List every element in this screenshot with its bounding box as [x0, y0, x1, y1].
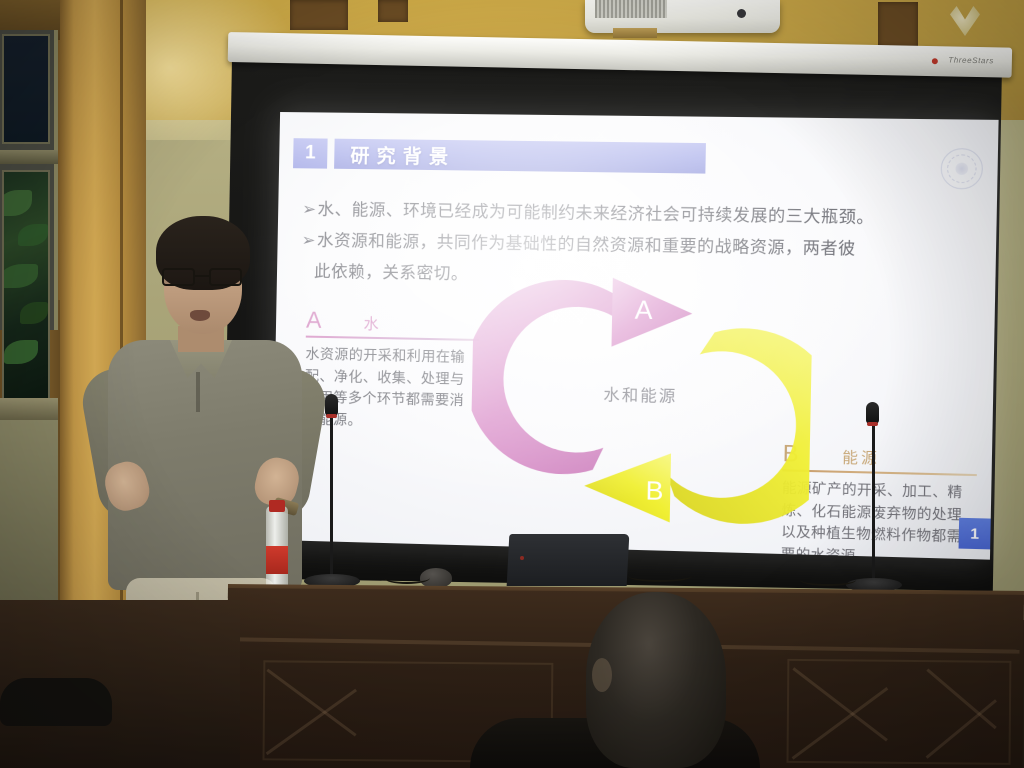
microphone-right-indicator — [867, 422, 878, 426]
stool — [0, 678, 112, 726]
window-upper-pane — [2, 34, 50, 144]
microphone-left-capsule — [325, 394, 338, 416]
glasses-icon — [162, 268, 246, 286]
wall-under-window — [0, 420, 58, 620]
cycle-arrow-a-letter: A — [634, 294, 653, 325]
block-b-body: 能源矿产的开采、加工、精炼、化石能源废弃物的处理以及种植生物燃料作物都需要的水资… — [781, 477, 977, 559]
block-a-word: 水 — [363, 313, 382, 334]
microphone-left-stem — [330, 404, 333, 580]
wall-art-panel-right — [878, 2, 918, 48]
laptop-computer[interactable] — [507, 534, 630, 586]
projector-lens-icon — [737, 9, 746, 18]
slide-title: 研究背景 — [334, 140, 455, 169]
window-mullion — [0, 150, 58, 164]
block-b-heading: B 能源 — [782, 442, 977, 471]
window-sill — [0, 398, 58, 420]
slide-block-b: B 能源 能源矿产的开采、加工、精炼、化石能源废弃物的处理以及种植生物燃料作物都… — [781, 442, 978, 560]
microphone-right-capsule — [866, 402, 879, 424]
bottle-label — [266, 546, 288, 574]
projected-slide: 1 研究背景 ➢水、能源、环境已经成为可能制约未来经济社会可持续发展的三大瓶颈。… — [272, 112, 999, 560]
attendee-ear — [592, 658, 612, 692]
slide-header: 1 研究背景 — [293, 138, 706, 173]
projector-vent — [595, 0, 667, 18]
block-b-rule — [782, 469, 977, 476]
conference-room-scene: ThreeStars 1 研究背景 ➢水、能源、环境已经成为可能制约未来经济社会… — [0, 0, 1024, 768]
projector-mount — [613, 28, 657, 38]
desk-cable — [800, 574, 856, 586]
microphone-left-indicator — [326, 414, 337, 418]
cycle-arrow-b-arc — [666, 327, 814, 526]
slide-title-bar: 研究背景 — [334, 139, 706, 174]
bottle-cap — [269, 500, 285, 512]
bullet-text: 水、能源、环境已经成为可能制约未来经济社会可持续发展的三大瓶颈。 — [317, 201, 874, 227]
laptop-indicator-icon — [520, 556, 524, 560]
microphone-right-stem — [872, 412, 875, 584]
window-lower-pane — [2, 170, 50, 400]
wall-art-panel-mid — [378, 0, 408, 22]
cycle-arrow-a-arc — [469, 278, 627, 475]
slide-section-number: 1 — [293, 138, 328, 168]
laptop-cable — [628, 570, 692, 582]
brand-dot-icon — [932, 58, 938, 64]
wall-art-panel-left — [290, 0, 348, 30]
presenter-mouth — [190, 310, 210, 321]
university-seal-icon — [940, 148, 983, 190]
slide-page-badge: 1 — [959, 518, 991, 550]
presenter-shirt-placket — [196, 372, 200, 412]
mouse-cable — [384, 572, 430, 584]
cycle-arrow-b-letter: B — [645, 475, 663, 506]
cycle-diagram: A B 水和能源 — [469, 265, 813, 536]
screen-brand-label: ThreeStars — [948, 55, 994, 65]
bullet-text: 水资源和能源，共同作为基础性的自然资源和重要的战略资源，两者彼 — [317, 232, 856, 259]
